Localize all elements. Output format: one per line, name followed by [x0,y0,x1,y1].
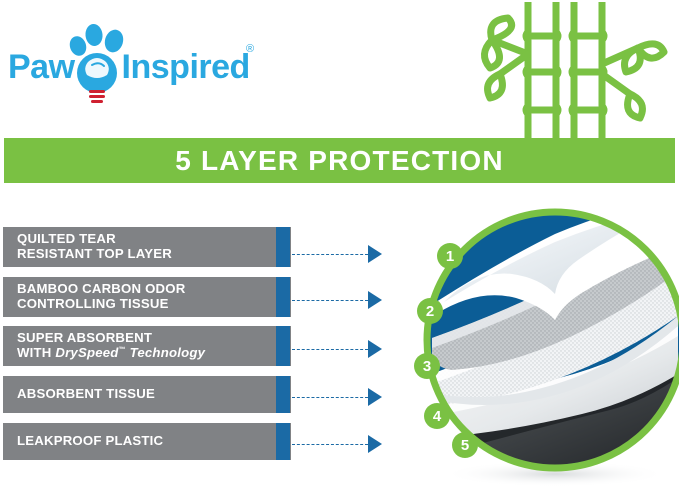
five-layer-cutaway-illustration: 1 2 3 4 5 [412,198,679,487]
layer-bar-accent-1 [276,227,290,267]
layer-bar-label-4: ABSORBENT TISSUE [17,376,265,413]
layer-bar-accent-4 [276,376,290,413]
layer-bar-5: LEAKPROOF PLASTIC [3,423,291,460]
layer-label-line2-tail-3: Technology [126,345,205,360]
trademark-symbol: ™ [119,347,126,354]
layer-label-line2-1: RESISTANT TOP LAYER [17,247,265,262]
layer-bar-accent-3 [276,326,290,366]
paw-lightbulb-icon [66,22,128,104]
layer-badge-2: 2 [417,298,443,324]
connector-line-2 [292,300,368,302]
layer-label-line2-prefix-1: RESISTANT TOP LAYER [17,246,172,261]
layer-badge-4: 4 [424,403,450,429]
brand-logo-text: PawInspired [8,50,250,84]
bamboo-stalks-icon [470,2,670,138]
layer-bar-1: QUILTED TEARRESISTANT TOP LAYER [3,227,291,267]
layer-label-line2-prefix-2: CONTROLLING TISSUE [17,296,169,311]
layer-bar-accent-2 [276,277,290,317]
layer-label-line1-1: QUILTED TEAR [17,232,265,247]
banner-title: 5 LAYER PROTECTION [175,145,504,177]
layer-label-line1-3: SUPER ABSORBENT [17,331,265,346]
layer-badge-1: 1 [437,243,463,269]
layer-label-line1-5: LEAKPROOF PLASTIC [17,434,265,449]
layer-badge-5: 5 [452,432,478,458]
layer-label-line2-prefix-3: WITH [17,345,55,360]
layer-label-line1-4: ABSORBENT TISSUE [17,387,265,402]
brand-logo: PawInspired ® [8,22,268,104]
connector-arrow-4 [368,388,382,406]
connector-arrow-2 [368,291,382,309]
layer-label-line2-3: WITH DrySpeed™ Technology [17,346,265,361]
connector-arrow-5 [368,435,382,453]
layer-bar-label-5: LEAKPROOF PLASTIC [17,423,265,460]
connector-arrow-3 [368,340,382,358]
connector-arrow-1 [368,245,382,263]
layer-bar-label-3: SUPER ABSORBENTWITH DrySpeed™ Technology [17,326,265,366]
layer-bar-label-1: QUILTED TEARRESISTANT TOP LAYER [17,227,265,267]
layer-bar-4: ABSORBENT TISSUE [3,376,291,413]
five-layer-protection-banner: 5 LAYER PROTECTION [4,138,675,183]
layer-label-line1-2: BAMBOO CARBON ODOR [17,282,265,297]
layer-badge-3: 3 [414,353,440,379]
brand-name-part2: Inspired [122,50,250,84]
connector-line-5 [292,444,368,446]
connector-line-4 [292,397,368,399]
layer-bar-accent-5 [276,423,290,460]
registered-trademark-symbol: ® [246,44,254,55]
layer-bar-2: BAMBOO CARBON ODORCONTROLLING TISSUE [3,277,291,317]
layer-bar-3: SUPER ABSORBENTWITH DrySpeed™ Technology [3,326,291,366]
brand-name-part1: Paw [8,50,75,84]
infographic-canvas: PawInspired ® [0,0,679,487]
layer-bar-label-2: BAMBOO CARBON ODORCONTROLLING TISSUE [17,277,265,317]
connector-line-3 [292,349,368,351]
layer-label-line2-2: CONTROLLING TISSUE [17,297,265,312]
dryspeed-wordmark: DrySpeed [55,345,118,360]
connector-line-1 [292,254,368,256]
